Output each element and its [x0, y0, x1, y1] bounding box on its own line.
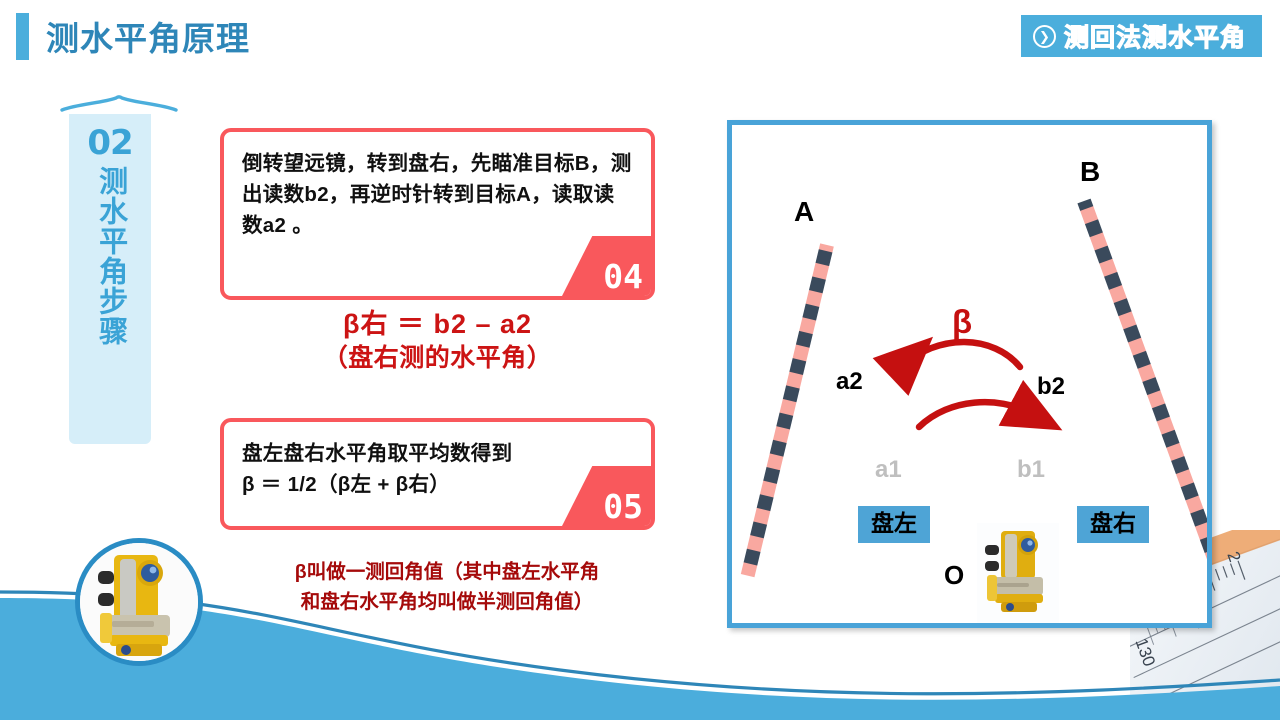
diagram-label-O: O: [944, 562, 964, 588]
bottom-note-line1: β叫做一测回角值（其中盘左水平角: [232, 557, 662, 587]
bottom-note-line2: 和盘右水平角均叫做半测回角值）: [232, 587, 662, 617]
plate-left-tag: 盘左: [858, 506, 930, 543]
step-card-05-corner: 05: [561, 466, 653, 528]
total-station-photo: [75, 538, 203, 666]
step-card-05: 盘左盘右水平角取平均数得到 β ＝ 1/2（β左 + β右） 05: [220, 418, 655, 530]
page-title: 测水平角原理: [46, 12, 250, 60]
step-card-05-number: 05: [603, 490, 643, 523]
section-badge[interactable]: ❯ 测回法测水平角: [1021, 15, 1262, 57]
bottom-note: β叫做一测回角值（其中盘左水平角 和盘右水平角均叫做半测回角值）: [232, 557, 662, 617]
step-card-04-corner: 04: [561, 236, 653, 298]
diagram-label-beta: β: [952, 305, 972, 338]
step-card-04: 倒转望远镜，转到盘右，先瞄准目标B，测出读数b2，再逆时针转到目标A，读取读数a…: [220, 128, 655, 300]
diagram-label-b1: b1: [1017, 458, 1045, 482]
circle-chevron-right-icon: ❯: [1033, 25, 1056, 48]
plate-right-tag: 盘右: [1077, 506, 1149, 543]
step-card-05-line1: 盘左盘右水平角取平均数得到: [242, 438, 633, 469]
diagram-label-A: A: [794, 198, 814, 226]
step-card-04-number: 04: [603, 260, 643, 293]
horizontal-angle-diagram: A B β a2 b2 a1 b1 O 盘左 盘右: [727, 120, 1212, 628]
formula-block: β右 ＝ b2 – a2 （盘右测的水平角）: [220, 308, 655, 374]
diagram-label-a2: a2: [836, 370, 863, 394]
formula-main: β右 ＝ b2 – a2: [220, 308, 655, 341]
banner-bracket-decoration: [60, 94, 178, 116]
sidebar-section-banner: 02 测水平角步骤: [69, 114, 151, 444]
formula-sub: （盘右测的水平角）: [220, 342, 655, 375]
diagram-total-station: [977, 523, 1059, 623]
section-badge-label: 测回法测水平角: [1064, 18, 1246, 54]
header-accent-bar: [16, 13, 29, 60]
diagram-label-B: B: [1080, 158, 1100, 186]
sidebar-section-label: 测水平角步骤: [94, 166, 125, 346]
diagram-label-b2: b2: [1037, 375, 1065, 399]
diagram-label-a1: a1: [875, 458, 902, 482]
sidebar-section-number: 02: [87, 126, 132, 160]
